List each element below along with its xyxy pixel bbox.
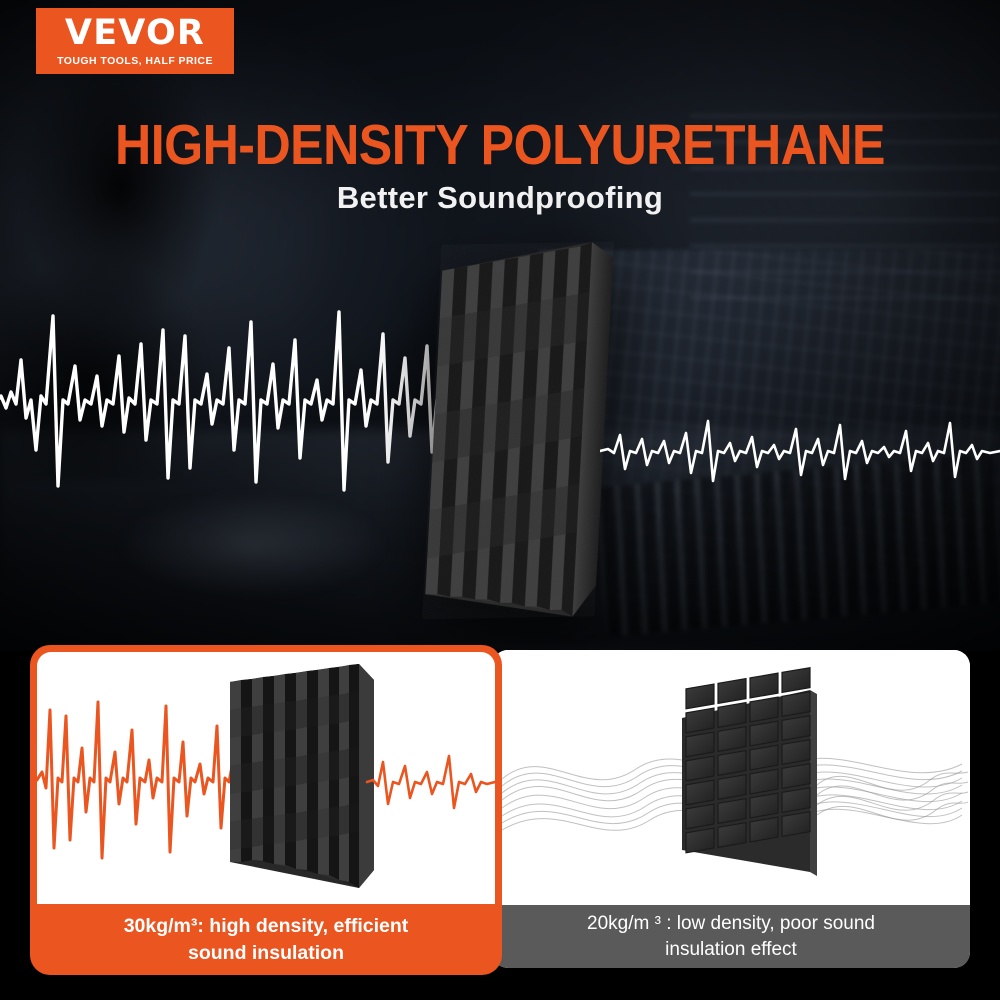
low-density-caption-line1: 20kg/m ³ : low density, poor sound: [587, 913, 875, 934]
hero-foam-panel: [422, 242, 614, 619]
comparison-card-low-density: 20kg/m ³ : low density, poor sound insul…: [492, 650, 970, 968]
low-density-caption-line2: insulation effect: [665, 939, 797, 960]
comparison-section: 20kg/m ³ : low density, poor sound insul…: [0, 645, 1000, 975]
high-density-foam-panel: [230, 664, 374, 888]
high-density-caption-line1: 30kg/m³: high density, efficient: [124, 915, 409, 937]
headline: HIGH-DENSITY POLYURETHANE: [60, 112, 940, 178]
hero-section: VEVOR TOUGH TOOLS, HALF PRICE HIGH-DENSI…: [0, 0, 1000, 650]
logo-tagline: TOUGH TOOLS, HALF PRICE: [57, 55, 213, 67]
high-density-caption: 30kg/m³: high density, efficient sound i…: [37, 904, 495, 975]
high-density-wave-after: [367, 756, 495, 808]
low-density-caption: 20kg/m ³ : low density, poor sound insul…: [492, 905, 970, 968]
high-density-wave-before: [37, 702, 247, 858]
high-density-illustration: [37, 652, 495, 904]
logo-wordmark: VEVOR: [65, 16, 205, 51]
subheadline: Better Soundproofing: [0, 180, 1000, 216]
vevor-logo: VEVOR TOUGH TOOLS, HALF PRICE: [36, 8, 234, 74]
low-density-illustration: [492, 650, 970, 905]
comparison-card-high-density: 30kg/m³: high density, efficient sound i…: [30, 645, 502, 975]
attenuated-sound-wave: [600, 395, 1000, 505]
high-density-caption-line2: sound insulation: [188, 942, 344, 964]
incoming-sound-wave: [0, 300, 455, 500]
product-infographic: VEVOR TOUGH TOOLS, HALF PRICE HIGH-DENSI…: [0, 0, 1000, 1000]
flat-grid-panel: [682, 668, 817, 876]
